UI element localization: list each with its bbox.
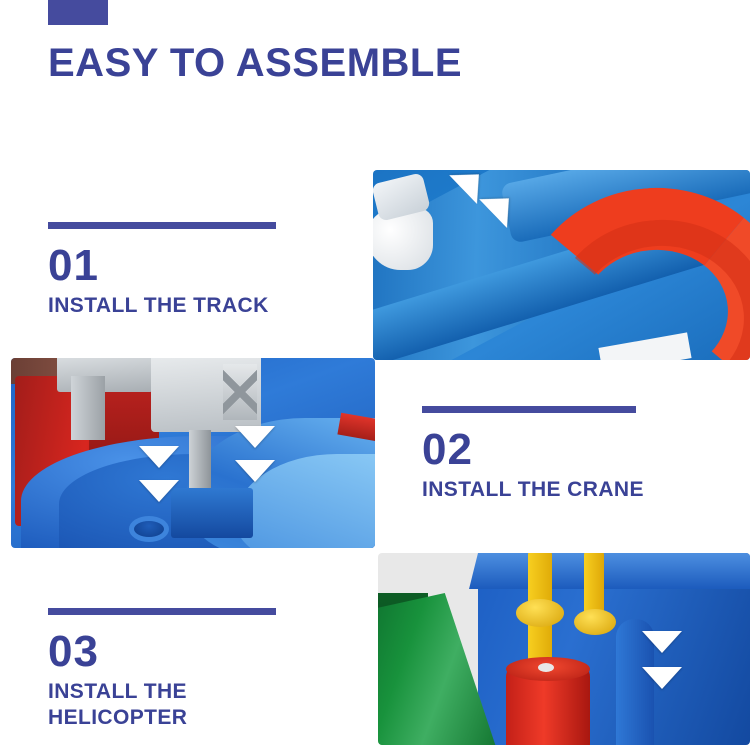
- heli-yellow-knob-left: [516, 599, 564, 627]
- step-rule-03: [48, 608, 276, 615]
- step-block-01: 01 INSTALL THE TRACK: [48, 222, 288, 319]
- step-rule-01: [48, 222, 276, 229]
- easy-to-assemble-infographic: EASY TO ASSEMBLE 01 INSTALL THE TRACK 02…: [0, 0, 750, 750]
- step-number-02: 02: [422, 427, 662, 473]
- crane-lattice-tower: [223, 364, 257, 420]
- step-number-03: 03: [48, 629, 298, 675]
- heli-red-screw: [538, 663, 554, 672]
- step-block-03: 03 INSTALL THE HELICOPTER: [48, 608, 298, 731]
- step-number-01: 01: [48, 243, 288, 289]
- helicopter-photo: [378, 553, 750, 745]
- step-label-02: INSTALL THE CRANE: [422, 477, 662, 503]
- heli-yellow-knob-right: [574, 609, 616, 635]
- step-label-03: INSTALL THE HELICOPTER: [48, 679, 298, 731]
- crane-blue-notch: [171, 488, 253, 538]
- step-block-02: 02 INSTALL THE CRANE: [422, 406, 662, 503]
- step-label-01: INSTALL THE TRACK: [48, 293, 288, 319]
- crane-grey-arm: [71, 376, 105, 440]
- crane-photo: [11, 358, 375, 548]
- step-rule-02: [422, 406, 636, 413]
- crane-blue-pipe: [129, 516, 169, 542]
- page-title: EASY TO ASSEMBLE: [48, 39, 462, 87]
- header-accent-block: [48, 0, 108, 25]
- heli-blue-lip: [469, 553, 750, 589]
- track-photo: [373, 170, 750, 360]
